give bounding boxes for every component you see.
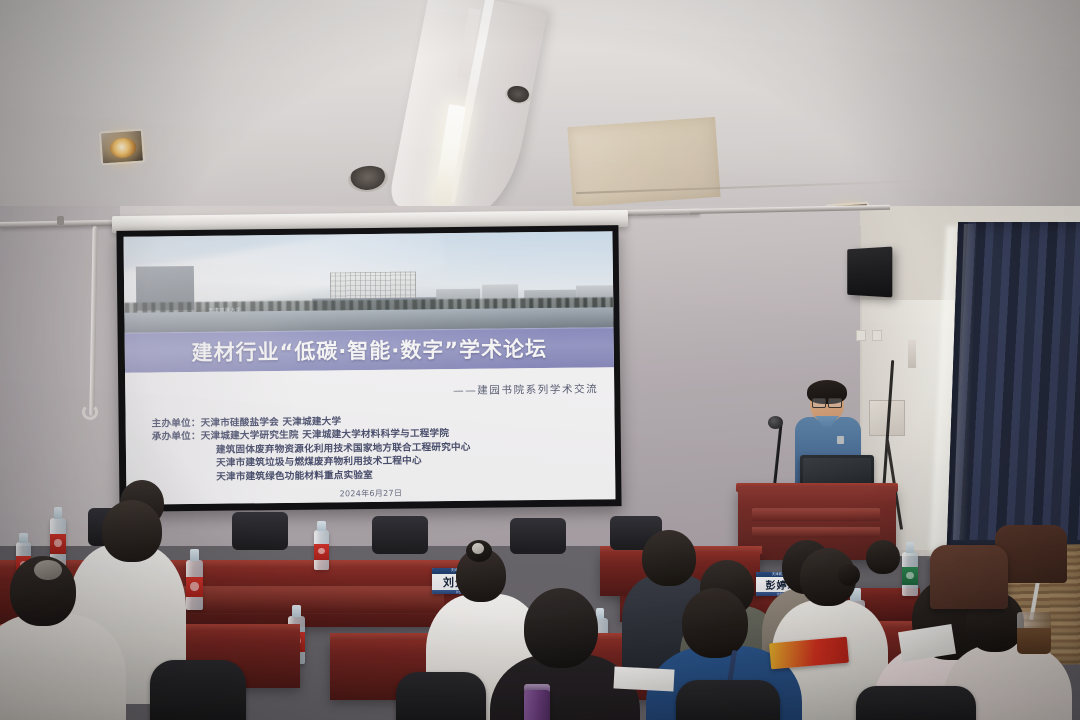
photo-campus-caption: 天津城建大学 (208, 306, 241, 313)
hair-bun (838, 564, 860, 586)
slide-title: 建材行业“低碳·智能·数字”学术论坛 (191, 333, 547, 367)
ceiling-shadow-right (750, 0, 1080, 232)
bottle-label (186, 577, 203, 597)
cohost-value-0: 天津城建大学研究生院 天津城建大学材料科学与工程学院 (201, 429, 449, 443)
attendee-body (0, 614, 126, 720)
wall-outlet-plate-2[interactable] (872, 330, 882, 341)
cohost-value-3: 天津市建筑绿色功能材料重点实验室 (152, 467, 471, 484)
glasses-icon (812, 398, 842, 406)
bottle-label (314, 544, 329, 560)
foreground-chair-left[interactable] (150, 660, 246, 720)
slide-body: ——建园书院系列学术交流 主办单位：天津市硅酸盐学会 天津城建大学 承办单位：天… (125, 367, 615, 505)
hair-accessory (472, 543, 484, 554)
wall-speaker (847, 247, 892, 298)
host-label: 主办单位： (152, 418, 201, 430)
hair-clip (34, 560, 62, 580)
chair-back-4[interactable] (510, 518, 566, 554)
chair-back-3[interactable] (372, 516, 428, 554)
slide-title-band: 建材行业“低碳·智能·数字”学术论坛 (125, 327, 614, 373)
host-value: 天津市硅酸盐学会 天津城建大学 (201, 416, 342, 429)
attendee-head (102, 500, 162, 562)
left-wall (0, 206, 120, 546)
cohost-label: 承办单位： (152, 431, 201, 443)
ceiling-shadow-left (0, 0, 300, 232)
foreground-chair-far-right[interactable] (856, 686, 976, 720)
host-line: 主办单位：天津市硅酸盐学会 天津城建大学 (152, 416, 342, 429)
wall-hook (57, 216, 64, 225)
bottle-label (902, 567, 918, 585)
attendee-head (524, 588, 598, 668)
purple-thermos[interactable] (524, 690, 550, 720)
slide-banner-photo: 天津城建大学 (123, 231, 613, 333)
presenter-badge (837, 436, 844, 444)
iced-coffee-cup[interactable] (1017, 612, 1051, 654)
attendee-head (682, 588, 748, 658)
projection-screen: 天津城建大学 建材行业“低碳·智能·数字”学术论坛 ——建园书院系列学术交流 主… (123, 231, 615, 505)
ceiling-spotlight-left (99, 129, 145, 166)
attendee-head (642, 530, 696, 586)
slide-organizers: 主办单位：天津市硅酸盐学会 天津城建大学 承办单位：天津城建大学研究生院 天津城… (152, 414, 471, 485)
slide-subtitle: ——建园书院系列学术交流 (453, 381, 598, 398)
foreground-chair-right[interactable] (676, 680, 780, 720)
office-chair-brown-1[interactable] (930, 545, 1008, 609)
wall-switch[interactable] (908, 340, 916, 368)
slide-date: 2024年6月27日 (126, 485, 615, 502)
handout-paper-2[interactable] (613, 666, 674, 691)
water-bottle-4[interactable] (314, 530, 329, 570)
podium-front-panel-1 (752, 508, 880, 521)
lightbulb-icon (109, 137, 136, 159)
water-bottle-2[interactable] (186, 560, 203, 610)
podium-front-panel-2 (752, 527, 880, 538)
microphone-icon (768, 416, 783, 429)
attendee-head (866, 540, 900, 574)
conference-room-photo: 天津城建大学 建材行业“低碳·智能·数字”学术论坛 ——建园书院系列学术交流 主… (0, 0, 1080, 720)
foreground-chair-mid[interactable] (396, 672, 486, 720)
chair-back-2[interactable] (232, 512, 288, 550)
bottle-label (50, 534, 66, 553)
coffee-fill (1017, 628, 1051, 654)
laptop-screen (803, 458, 871, 486)
speaker-cord (859, 226, 861, 250)
curtain-pull-hook[interactable] (82, 404, 98, 420)
water-bottle-8[interactable] (902, 552, 918, 596)
wall-outlet-plate-1[interactable] (856, 330, 866, 341)
